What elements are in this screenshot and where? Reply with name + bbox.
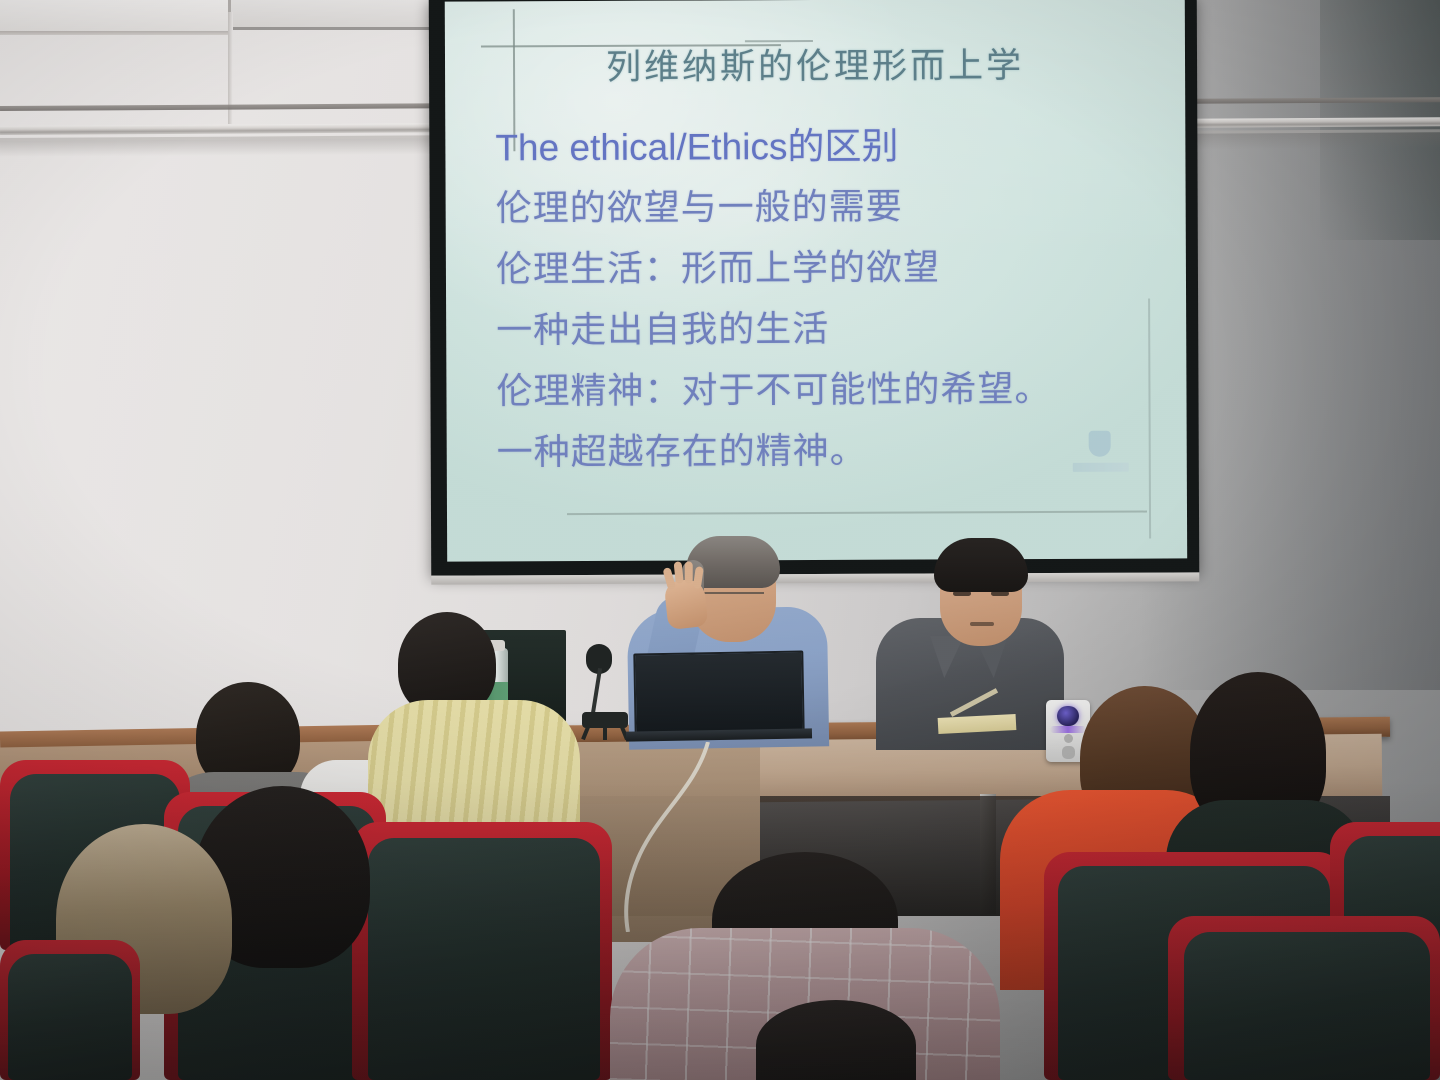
photo-vignette: [0, 0, 1440, 1080]
lecture-hall-photograph: 列维纳斯的伦理形而上学 The ethical/Ethics的区别 伦理的欲望与…: [0, 0, 1440, 1080]
